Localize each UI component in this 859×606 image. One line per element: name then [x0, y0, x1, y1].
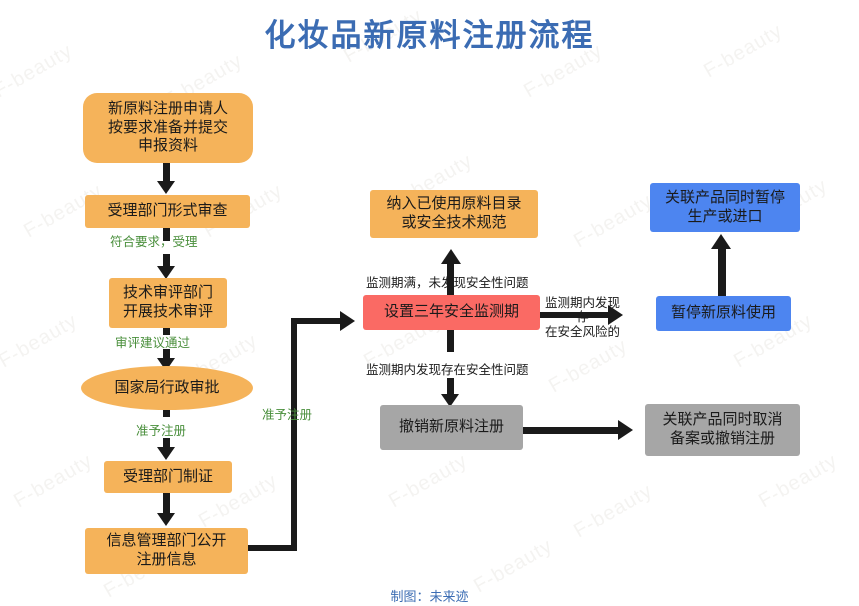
- arrowhead-n1-n2: [157, 181, 175, 194]
- edge-label-approve-reg: 准予注册: [136, 420, 186, 439]
- connector-n5-n6: [163, 493, 170, 515]
- watermark-text: F-beauty: [385, 450, 472, 513]
- arrowhead-n9-n12: [618, 420, 633, 440]
- flowchart-canvas: F-beauty F-beauty F-beauty F-beauty F-be…: [0, 0, 859, 606]
- edge-label-approve-reg-2: 准予注册: [262, 404, 312, 423]
- watermark-text: F-beauty: [570, 190, 657, 253]
- watermark-text: F-beauty: [0, 310, 82, 373]
- node-admin-approval[interactable]: 国家局行政审批: [81, 366, 253, 410]
- node-technical-review[interactable]: 技术审评部门 开展技术审评: [109, 278, 227, 328]
- connector-n9-n12: [523, 427, 623, 434]
- edge-label-found-risk: 监测期内发现存 在安全风险的: [545, 296, 620, 339]
- edge-label-monitor-done: 监测期满，未发现安全性问题: [366, 272, 529, 291]
- edge-label-review-pass: 审评建议通过: [115, 332, 190, 351]
- footer-credit: 制图：未来迹: [0, 586, 859, 605]
- node-suspend-use[interactable]: 暂停新原料使用: [656, 296, 791, 331]
- node-applicant-submit[interactable]: 新原料注册申请人 按要求准备并提交 申报资料: [83, 93, 253, 163]
- connector-n6-n7-h2: [291, 318, 343, 324]
- connector-n7-n9-a: [447, 330, 454, 352]
- connector-n6-n7-v: [291, 318, 297, 551]
- node-revoke-registration[interactable]: 撤销新原料注册: [380, 405, 523, 450]
- connector-n1-n2: [163, 163, 170, 183]
- node-issue-certificate[interactable]: 受理部门制证: [104, 461, 232, 493]
- arrowhead-n10-n11: [711, 234, 731, 249]
- page-title: 化妆品新原料注册流程: [0, 10, 859, 55]
- node-suspend-production[interactable]: 关联产品同时暂停 生产或进口: [650, 183, 800, 232]
- arrowhead-n4-n5: [157, 447, 175, 460]
- watermark-text: F-beauty: [570, 480, 657, 543]
- node-formal-review[interactable]: 受理部门形式审查: [85, 195, 250, 228]
- node-publish-info[interactable]: 信息管理部门公开 注册信息: [85, 528, 248, 574]
- node-three-year-monitor[interactable]: 设置三年安全监测期: [363, 295, 540, 330]
- watermark-text: F-beauty: [545, 335, 632, 398]
- node-include-in-catalog[interactable]: 纳入已使用原料目录 或安全技术规范: [370, 190, 538, 238]
- connector-n10-n11: [718, 248, 726, 296]
- arrowhead-n7-n8: [441, 249, 461, 264]
- connector-n4-n5-a: [163, 409, 170, 417]
- node-cancel-filing[interactable]: 关联产品同时取消 备案或撤销注册: [645, 404, 800, 456]
- arrowhead-n6-n7: [340, 311, 355, 331]
- watermark-text: F-beauty: [755, 450, 842, 513]
- edge-label-found-issue: 监测期内发现存在安全性问题: [366, 359, 529, 378]
- connector-n6-n7-h1: [247, 545, 297, 551]
- edge-label-accept: 符合要求，受理: [110, 231, 198, 250]
- arrowhead-n5-n6: [157, 513, 175, 526]
- watermark-text: F-beauty: [10, 450, 97, 513]
